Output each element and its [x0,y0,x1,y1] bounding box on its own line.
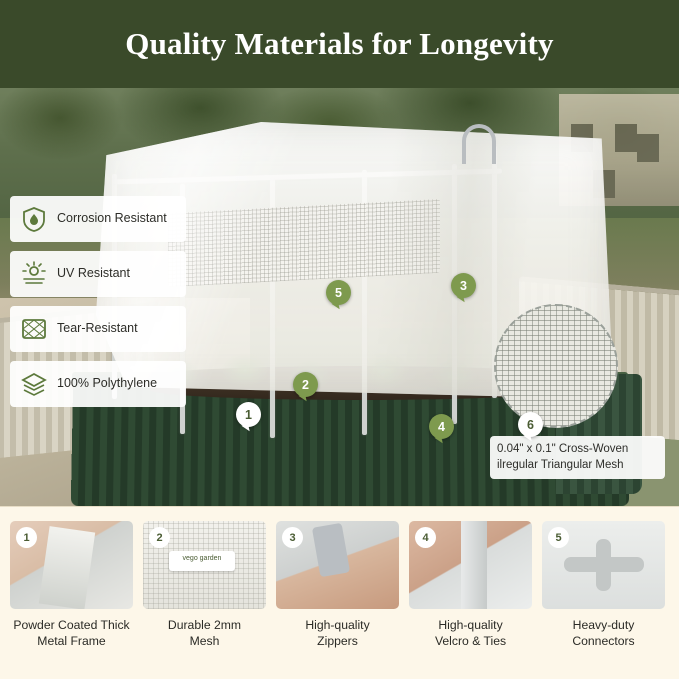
feature-chip-label: Corrosion Resistant [57,211,167,227]
thumbnail-connector: 5 [542,521,665,609]
feature-chip-label: UV Resistant [57,266,130,282]
feature-card-5: 5 Heavy-duty Connectors [542,521,665,650]
feature-cards: 1 Powder Coated Thick Metal Frame 2 vego… [10,521,669,650]
card-number: 1 [16,527,37,548]
feature-chip-label: Tear-Resistant [57,321,138,337]
card-number: 5 [548,527,569,548]
card-number: 3 [282,527,303,548]
feature-card-2: 2 vego garden Durable 2mm Mesh [143,521,266,650]
card-label: Durable 2mm Mesh [143,618,266,650]
card-number: 2 [149,527,170,548]
card-label: High-quality Velcro & Ties [409,618,532,650]
page-title: Quality Materials for Longevity [125,26,553,62]
thumbnail-velcro: 4 [409,521,532,609]
feature-chip-uv-resistant: UV Resistant [10,251,186,297]
card-label: Powder Coated Thick Metal Frame [10,618,133,650]
mesh-callout-line2: ilregular Triangular Mesh [497,458,658,474]
mesh-callout-caption: 0.04" x 0.1" Cross-Woven ilregular Trian… [490,436,665,479]
product-infographic: Quality Materials for Longevity 0.04" x … [0,0,679,679]
carry-handle-strap [462,124,496,164]
photo-pin-3: 3 [451,273,476,298]
photo-pin-2: 2 [293,372,318,397]
feature-chip-corrosion-resistant: Corrosion Resistant [10,196,186,242]
feature-cards-strip: 1 Powder Coated Thick Metal Frame 2 vego… [0,506,679,679]
card-number: 4 [415,527,436,548]
brand-logo: vego garden [173,555,231,562]
photo-pin-5: 5 [326,280,351,305]
card-label: High-quality Zippers [276,618,399,650]
photo-pin-6: 6 [518,412,543,437]
feature-card-4: 4 High-quality Velcro & Ties [409,521,532,650]
header-banner: Quality Materials for Longevity [0,0,679,88]
thumbnail-mesh: 2 vego garden [143,521,266,609]
photo-pin-1: 1 [236,402,261,427]
feature-chip-polythylene: 100% Polythylene [10,361,186,407]
mesh-grid-icon [20,315,48,343]
feature-chip-label: 100% Polythylene [57,376,157,392]
layers-icon [20,370,48,398]
feature-card-1: 1 Powder Coated Thick Metal Frame [10,521,133,650]
sun-uv-icon [20,260,48,288]
card-label: Heavy-duty Connectors [542,618,665,650]
photo-pin-4: 4 [429,414,454,439]
mesh-callout-line1: 0.04" x 0.1" Cross-Woven [497,442,658,458]
water-drop-shield-icon [20,205,48,233]
thumbnail-zipper: 3 [276,521,399,609]
feature-chip-list: Corrosion Resistant UV Resistant [10,196,186,416]
thumbnail-metal-frame: 1 [10,521,133,609]
feature-card-3: 3 High-quality Zippers [276,521,399,650]
hero-photo: 0.04" x 0.1" Cross-Woven ilregular Trian… [0,88,679,506]
feature-chip-tear-resistant: Tear-Resistant [10,306,186,352]
mesh-zoom-circle [494,304,618,428]
